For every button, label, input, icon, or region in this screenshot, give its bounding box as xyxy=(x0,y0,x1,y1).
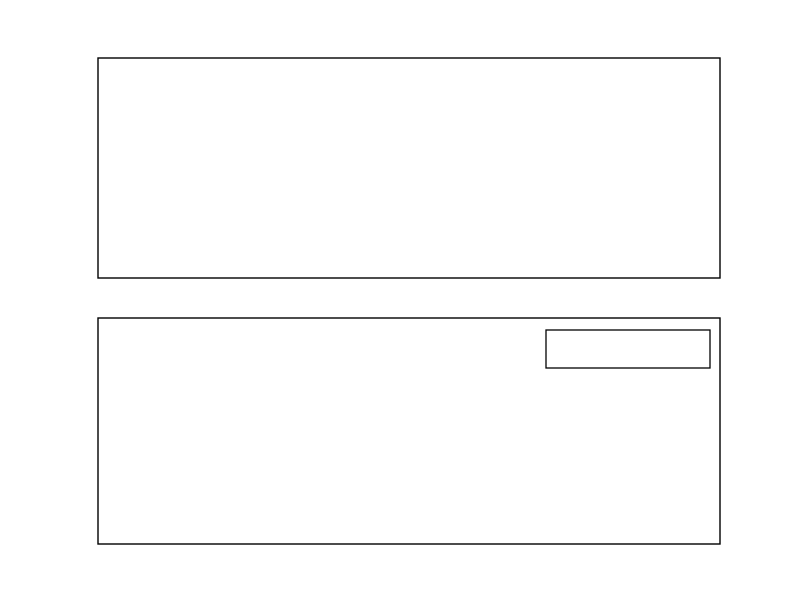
top-axes xyxy=(98,58,720,278)
figure-canvas xyxy=(0,0,800,600)
legend-frame xyxy=(546,330,710,368)
top-axes-frame xyxy=(98,58,720,278)
matplotlib-figure xyxy=(0,0,800,600)
legend[interactable] xyxy=(546,330,710,368)
bottom-axes xyxy=(0,0,720,544)
